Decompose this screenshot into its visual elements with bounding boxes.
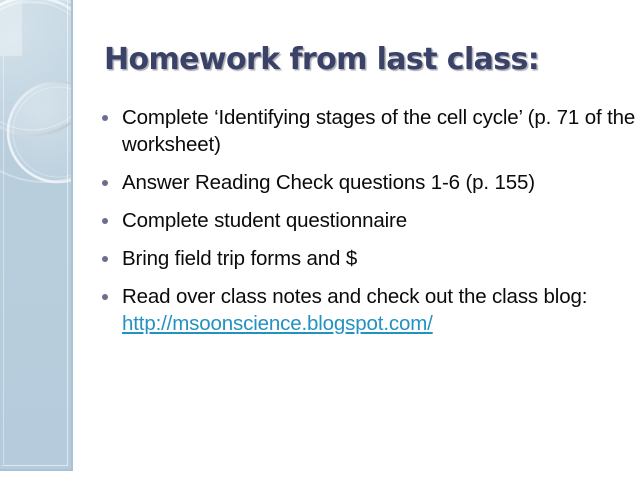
sidebar-light-panel <box>0 0 22 56</box>
bullet-dot-icon <box>102 256 108 262</box>
list-item-text: Complete ‘Identifying stages of the cell… <box>122 104 638 158</box>
slide-canvas: Homework from last class: Complete ‘Iden… <box>0 0 640 480</box>
bullet-dot-icon <box>102 180 108 186</box>
homework-bullet-list: Complete ‘Identifying stages of the cell… <box>96 104 638 337</box>
list-item-text: Bring field trip forms and $ <box>122 245 638 272</box>
list-item: Complete ‘Identifying stages of the cell… <box>96 104 638 158</box>
blog-hyperlink[interactable]: http://msoonscience.blogspot.com/ <box>122 312 433 335</box>
sidebar-left-edge-highlight <box>3 56 4 464</box>
list-item-text-prefix: Read over class notes and check out the … <box>122 285 587 308</box>
page-title: Homework from last class: <box>104 42 624 77</box>
sidebar-decorative-band <box>0 0 73 471</box>
sidebar-bottom-edge-highlight <box>2 465 68 466</box>
list-item-text: Answer Reading Check questions 1-6 (p. 1… <box>122 169 638 196</box>
bullet-dot-icon <box>102 294 108 300</box>
list-item: Bring field trip forms and $ <box>96 245 638 272</box>
list-item-text: Complete student questionnaire <box>122 207 638 234</box>
list-item: Read over class notes and check out the … <box>96 283 638 337</box>
bullet-dot-icon <box>102 218 108 224</box>
bullet-dot-icon <box>102 115 108 121</box>
sidebar-inner-edge-highlight <box>67 0 68 465</box>
list-item: Answer Reading Check questions 1-6 (p. 1… <box>96 169 638 196</box>
list-item: Complete student questionnaire <box>96 207 638 234</box>
list-item-text: Read over class notes and check out the … <box>122 283 638 337</box>
